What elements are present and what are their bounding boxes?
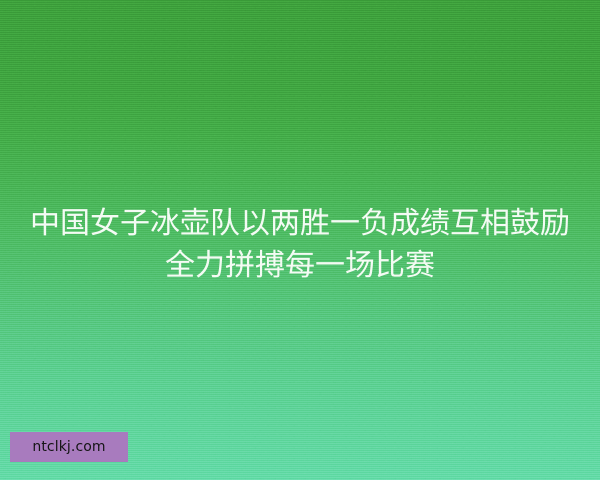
banner-image-canvas: 中国女子冰壶队以两胜一负成绩互相鼓励 全力拼搏每一场比赛 ntclkj.com bbox=[0, 0, 600, 480]
background-gradient bbox=[0, 0, 600, 480]
watermark-badge-label: ntclkj.com bbox=[32, 440, 105, 454]
watermark-badge: ntclkj.com bbox=[10, 432, 128, 462]
